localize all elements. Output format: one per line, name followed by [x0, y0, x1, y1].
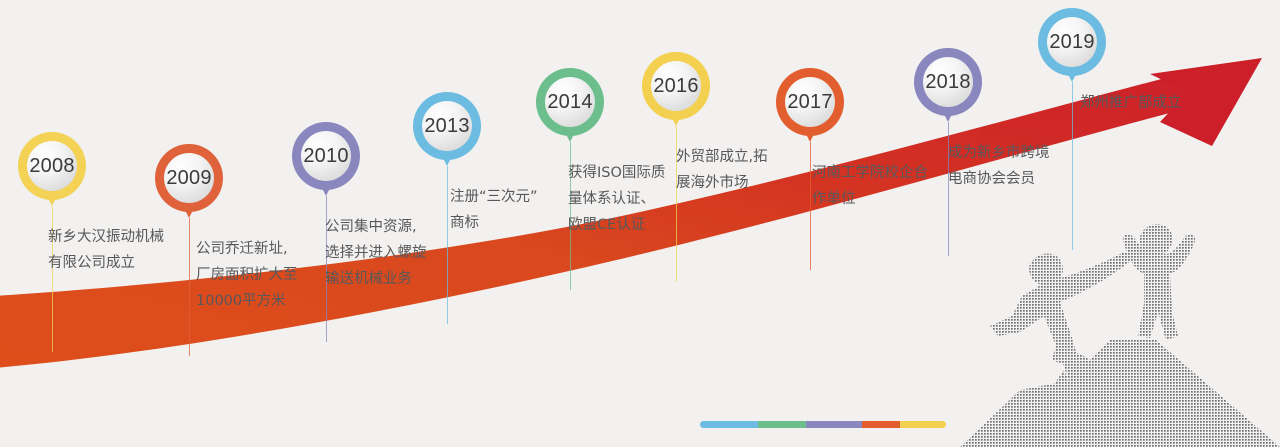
pin-face: 2008: [27, 141, 77, 191]
pin-tip: [440, 152, 454, 166]
palette-segment-1: [758, 421, 806, 428]
milestone-pin-2017[interactable]: 2017: [776, 68, 844, 136]
pin-tip: [563, 128, 577, 142]
milestone-pin-2013[interactable]: 2013: [413, 92, 481, 160]
pin-face: 2018: [923, 57, 973, 107]
leader-line-2019: [1072, 82, 1073, 250]
pin-face: 2017: [785, 77, 835, 127]
pin-face: 2013: [422, 101, 472, 151]
milestone-year-label: 2013: [424, 116, 469, 136]
milestone-caption-2010: 公司集中资源, 选择并进入螺旋 输送机械业务: [325, 214, 427, 292]
pin-tip: [1065, 68, 1079, 82]
palette-segment-4: [900, 421, 946, 428]
milestone-year-label: 2014: [547, 92, 592, 112]
milestone-year-label: 2009: [166, 168, 211, 188]
pin-tip: [319, 182, 333, 196]
milestone-caption-2016: 外贸部成立,拓 展海外市场: [676, 144, 768, 196]
milestone-caption-2013: 注册“三次元” 商标: [450, 184, 538, 236]
palette-bar: [700, 421, 946, 428]
milestone-pin-2019[interactable]: 2019: [1038, 8, 1106, 76]
milestone-pin-2018[interactable]: 2018: [914, 48, 982, 116]
palette-segment-0: [700, 421, 758, 428]
climbers-silhouette-icon: [960, 220, 1280, 447]
milestone-caption-2018: 成为新乡市跨境 电商协会会员: [948, 140, 1050, 192]
leader-line-2009: [189, 218, 190, 356]
pin-face: 2009: [164, 153, 214, 203]
milestone-caption-2009: 公司乔迁新址, 厂房面积扩大至 10000平方米: [196, 236, 298, 314]
pin-tip: [941, 108, 955, 122]
milestone-caption-2017: 河南工学院校企合 作单位: [812, 160, 928, 212]
milestone-year-label: 2016: [653, 76, 698, 96]
pin-face: 2014: [545, 77, 595, 127]
milestone-year-label: 2019: [1049, 32, 1094, 52]
milestone-pin-2014[interactable]: 2014: [536, 68, 604, 136]
palette-segment-3: [862, 421, 900, 428]
milestone-pin-2008[interactable]: 2008: [18, 132, 86, 200]
palette-segment-2: [806, 421, 862, 428]
milestone-pin-2016[interactable]: 2016: [642, 52, 710, 120]
pin-tip: [182, 204, 196, 218]
milestone-year-label: 2010: [303, 146, 348, 166]
timeline-infographic: 2008新乡大汉振动机械 有限公司成立2009公司乔迁新址, 厂房面积扩大至 1…: [0, 0, 1280, 447]
leader-line-2017: [810, 142, 811, 270]
milestone-pin-2009[interactable]: 2009: [155, 144, 223, 212]
milestone-caption-2008: 新乡大汉振动机械 有限公司成立: [48, 224, 164, 276]
pin-face: 2010: [301, 131, 351, 181]
milestone-year-label: 2017: [787, 92, 832, 112]
pin-tip: [45, 192, 59, 206]
pin-tip: [669, 112, 683, 126]
leader-line-2013: [447, 166, 448, 324]
milestone-pin-2010[interactable]: 2010: [292, 122, 360, 190]
pin-face: 2016: [651, 61, 701, 111]
milestone-year-label: 2018: [925, 72, 970, 92]
milestone-year-label: 2008: [29, 156, 74, 176]
pin-tip: [803, 128, 817, 142]
milestone-caption-2014: 获得ISO国际质 量体系认证、 欧盟CE认证: [568, 160, 665, 238]
pin-face: 2019: [1047, 17, 1097, 67]
milestone-caption-2019: 郑州推广部成立: [1080, 90, 1182, 116]
